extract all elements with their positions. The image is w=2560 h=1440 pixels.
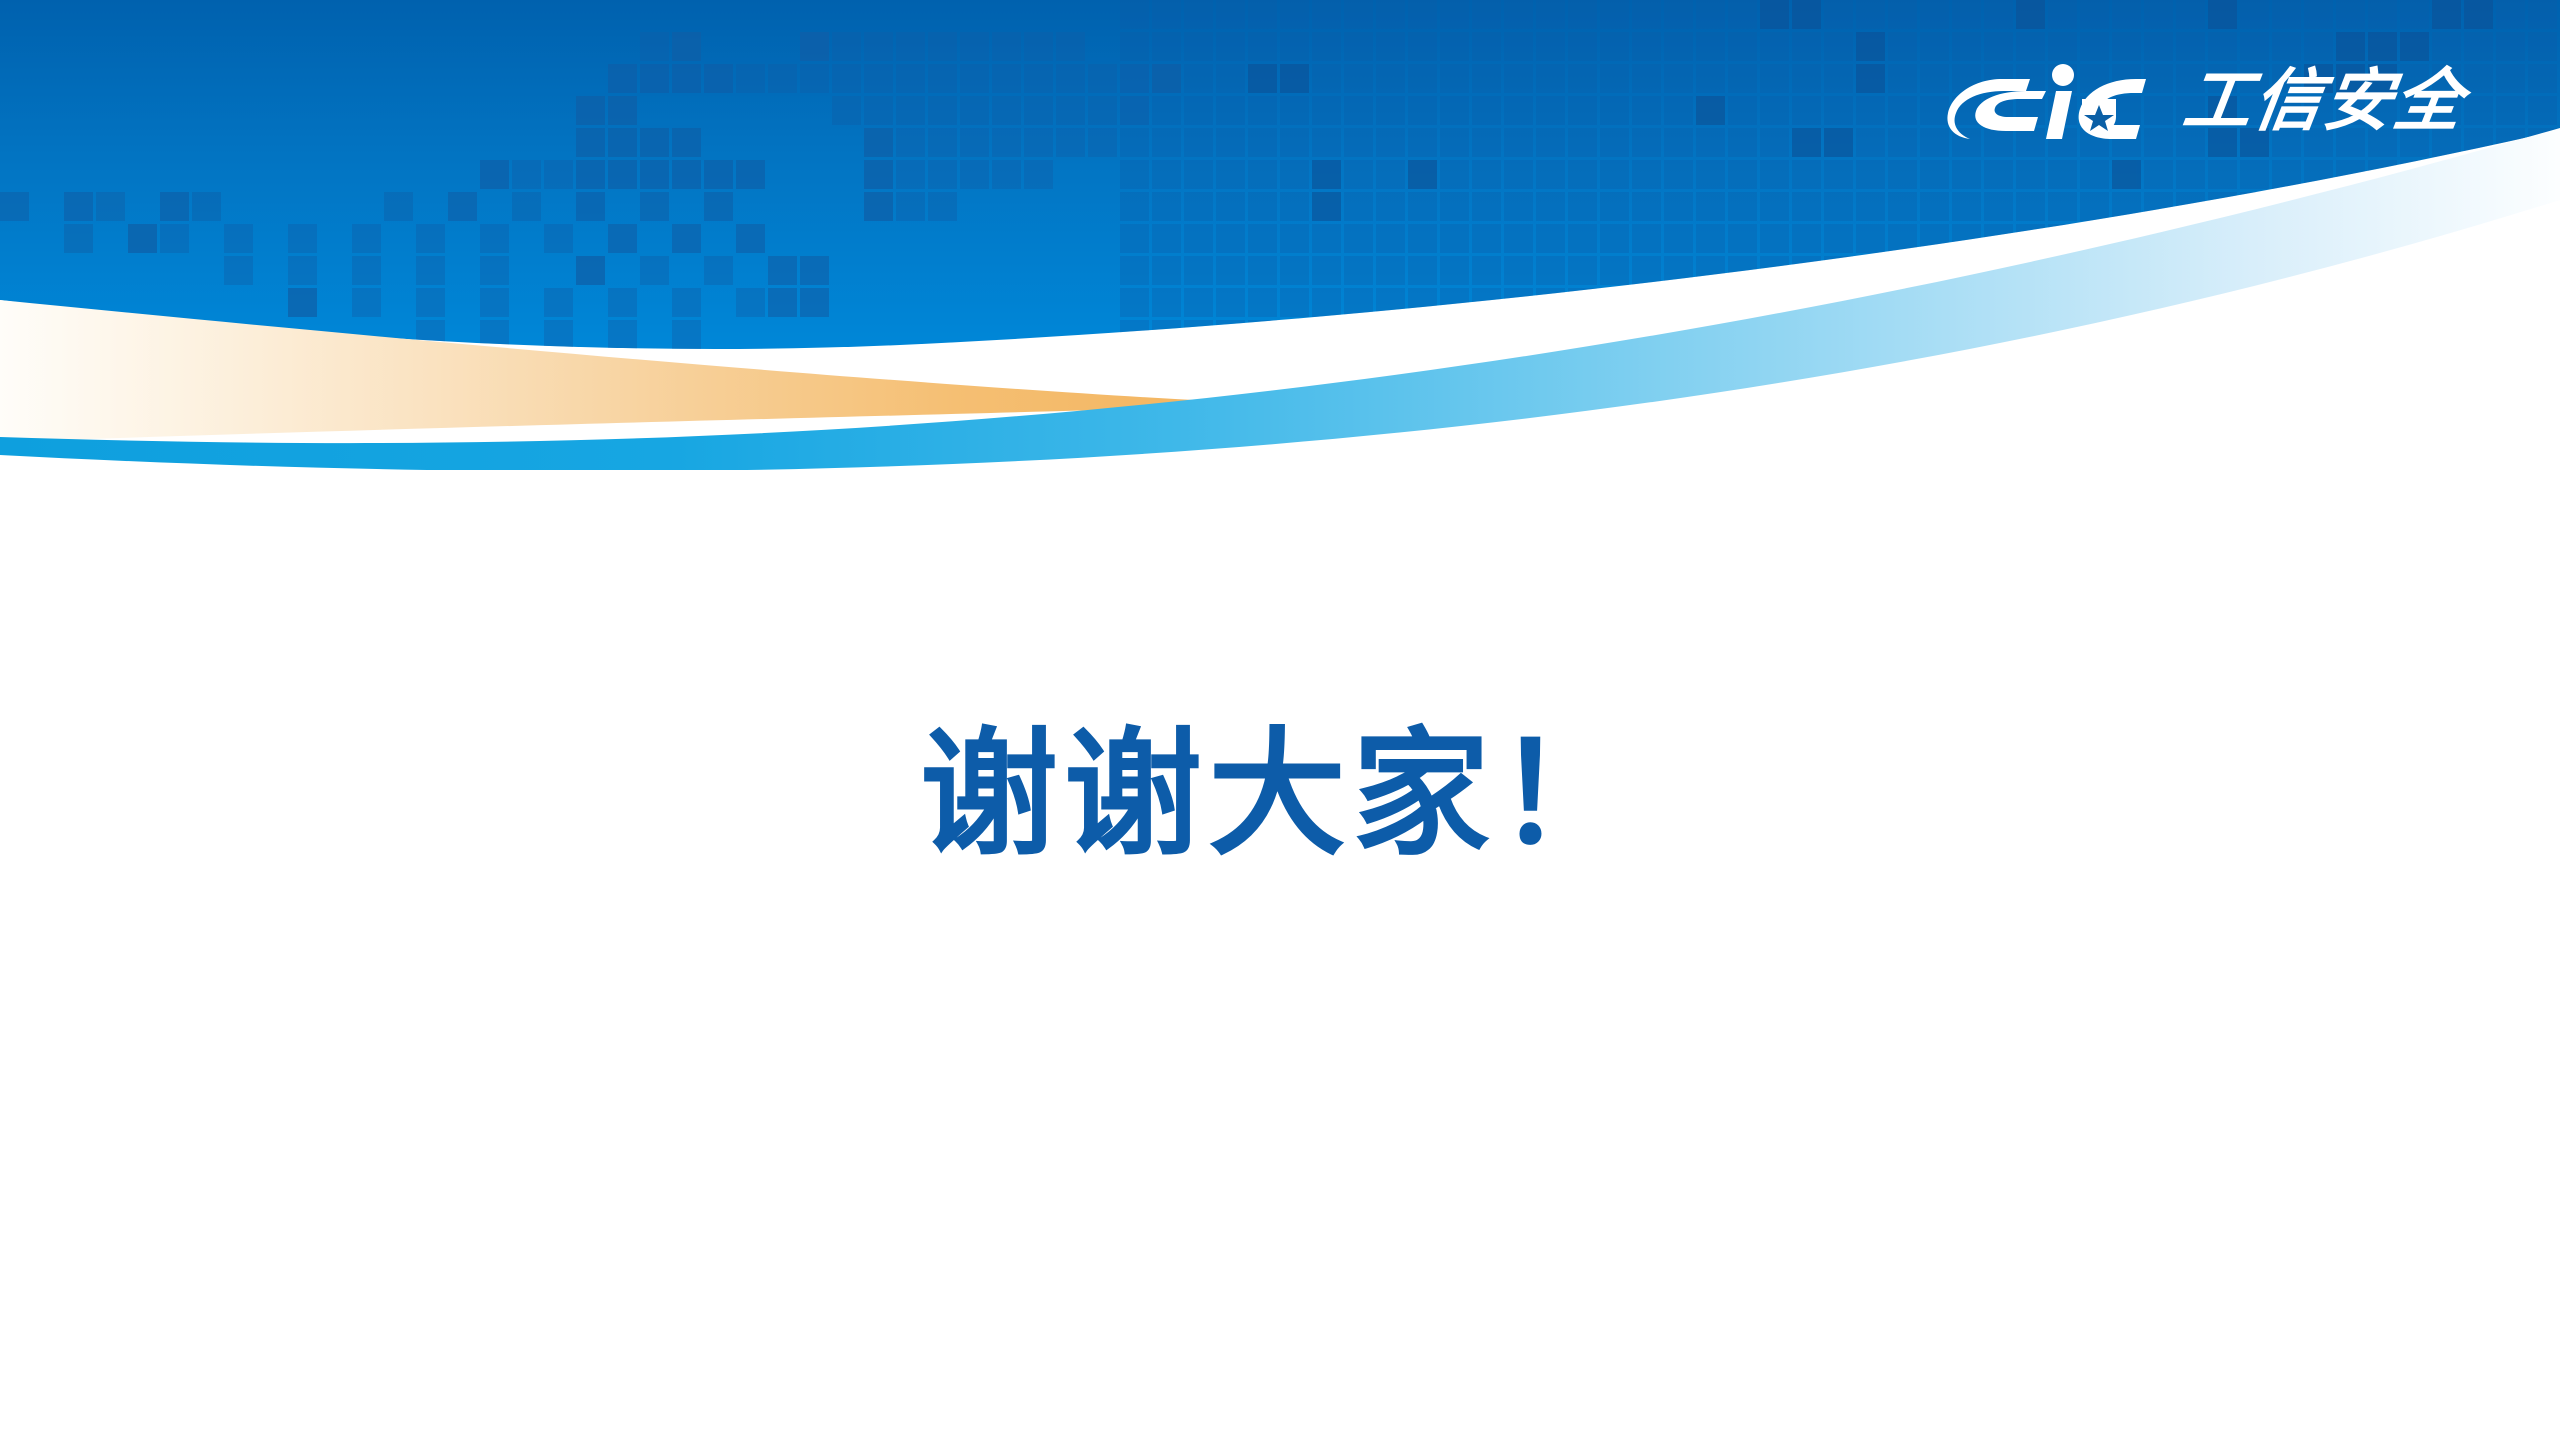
main-title-block: 谢谢大家！ [0, 718, 2560, 873]
page-title: 谢谢大家！ [920, 718, 1640, 873]
header-graphic [0, 0, 2560, 470]
slide-body-background [0, 470, 2560, 1440]
slide-canvas: 工信安全 谢谢大家！ [0, 0, 2560, 1440]
header-band [0, 0, 2560, 470]
